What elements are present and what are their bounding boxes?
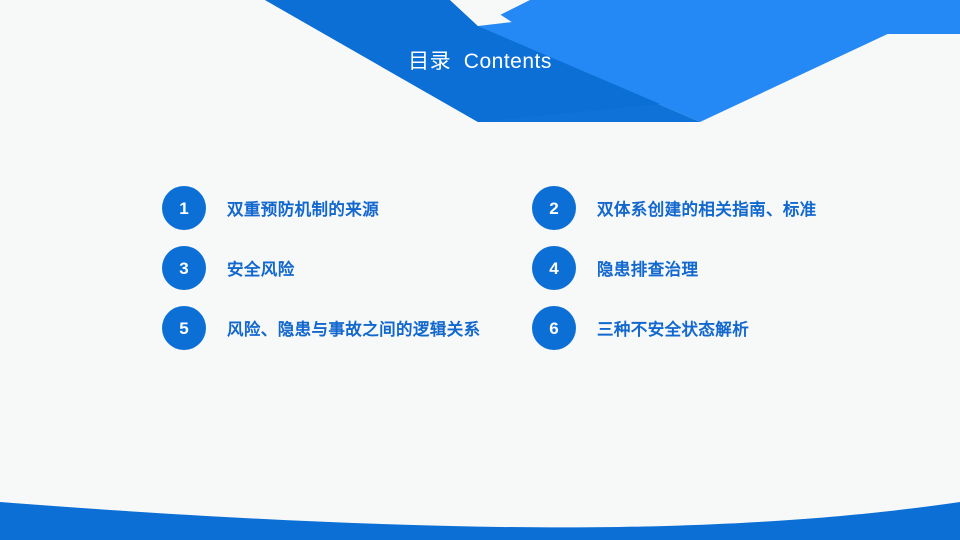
toc-number-badge-5: 5 <box>162 306 206 350</box>
toc-label-4[interactable]: 隐患排查治理 <box>597 256 698 280</box>
toc-label-5[interactable]: 风险、隐患与事故之间的逻辑关系 <box>227 316 481 340</box>
toc-label-3[interactable]: 安全风险 <box>227 256 295 280</box>
chevron-dark-fill <box>265 0 478 122</box>
toc-number-badge-2: 2 <box>532 186 576 230</box>
slide-canvas: 目录 Contents 1 双重预防机制的来源 2 双体系创建的相关指南、标准 … <box>0 0 960 540</box>
toc-number-badge-6: 6 <box>532 306 576 350</box>
toc-number-badge-3: 3 <box>162 246 206 290</box>
toc-number-badge-4: 4 <box>532 246 576 290</box>
wave-shape <box>0 502 960 540</box>
toc-label-6[interactable]: 三种不安全状态解析 <box>597 316 749 340</box>
contents-grid: 1 双重预防机制的来源 2 双体系创建的相关指南、标准 3 安全风险 4 隐患排… <box>162 178 902 358</box>
toc-item-1[interactable]: 1 双重预防机制的来源 <box>162 178 532 238</box>
footer-wave-decoration <box>0 480 960 540</box>
toc-item-2[interactable]: 2 双体系创建的相关指南、标准 <box>532 178 902 238</box>
toc-label-1[interactable]: 双重预防机制的来源 <box>227 196 379 220</box>
toc-label-2[interactable]: 双体系创建的相关指南、标准 <box>597 196 817 220</box>
toc-number-badge-1: 1 <box>162 186 206 230</box>
toc-item-5[interactable]: 5 风险、隐患与事故之间的逻辑关系 <box>162 298 532 358</box>
header-chevron-decoration <box>0 0 960 130</box>
toc-item-6[interactable]: 6 三种不安全状态解析 <box>532 298 902 358</box>
toc-item-4[interactable]: 4 隐患排查治理 <box>532 238 902 298</box>
toc-item-3[interactable]: 3 安全风险 <box>162 238 532 298</box>
